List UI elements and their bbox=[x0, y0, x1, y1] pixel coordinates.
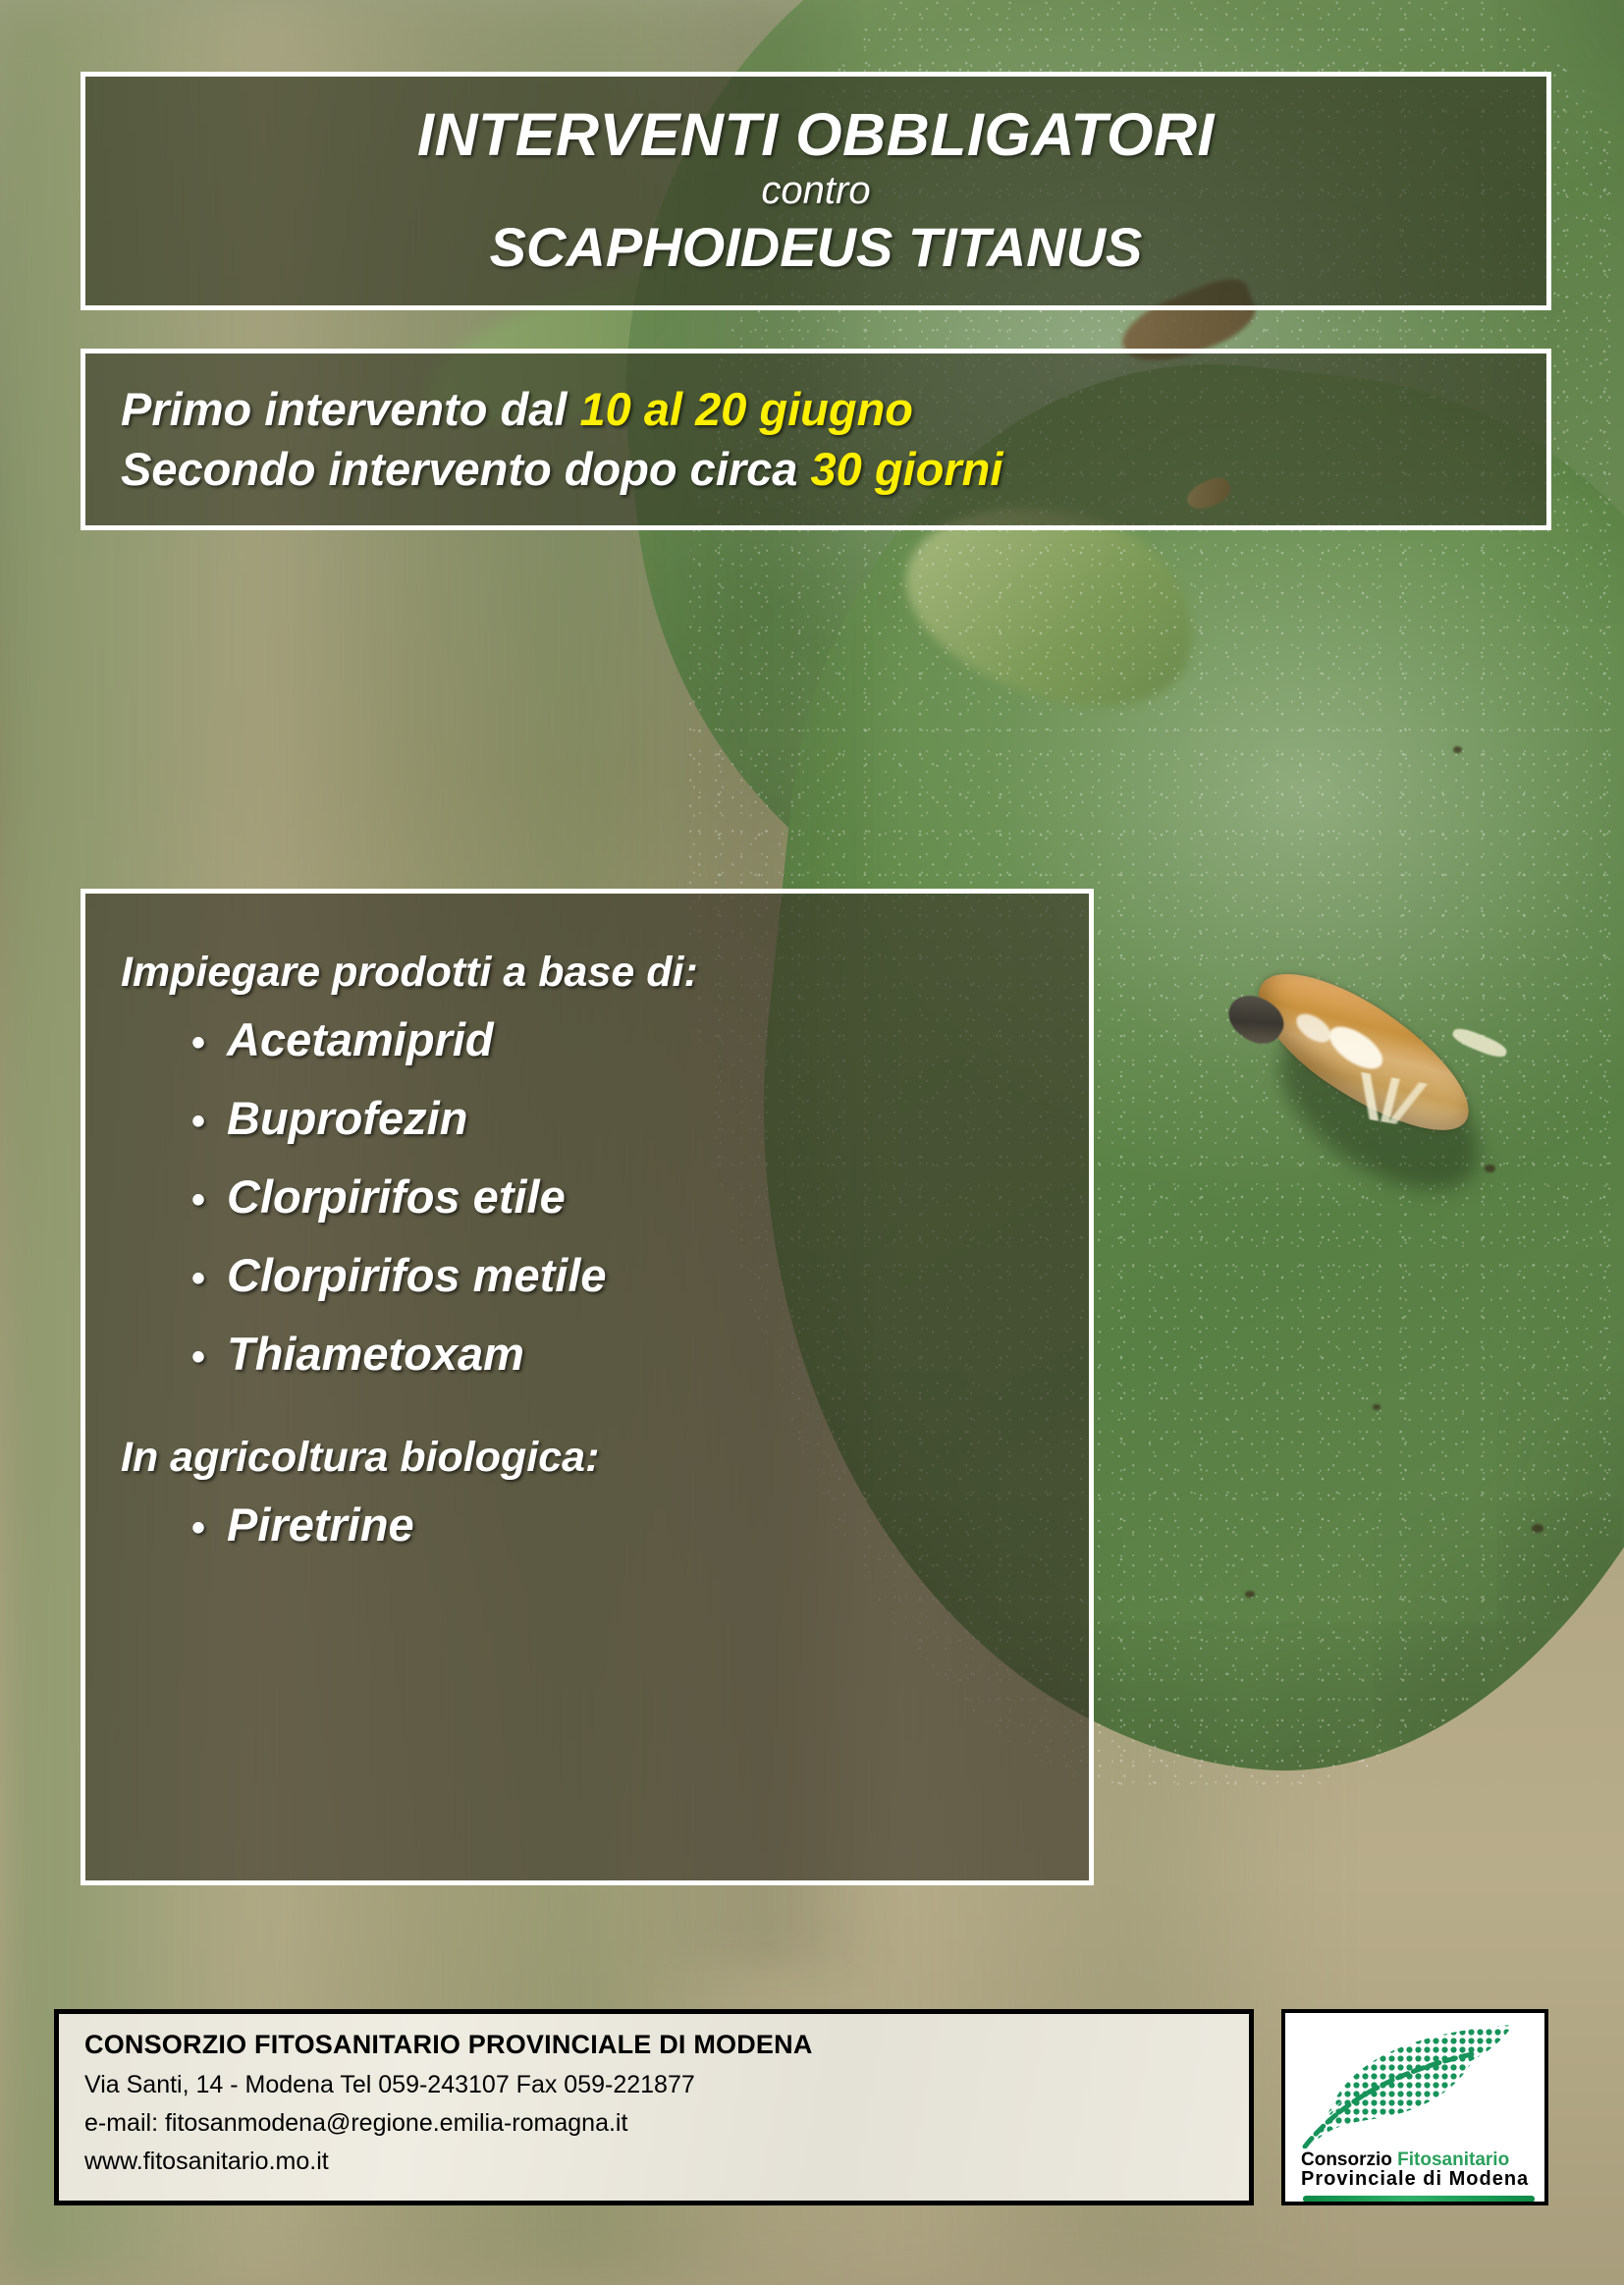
email-line[interactable]: e-mail: fitosanmodena@regione.emilia-rom… bbox=[84, 2111, 1249, 2136]
leaf-speck-icon bbox=[1453, 746, 1462, 753]
bullet-icon: • bbox=[191, 1023, 227, 1062]
list-item-label: Acetamiprid bbox=[227, 1016, 494, 1062]
address-phone-fax-line: Via Santi, 14 - Modena Tel 059-243107 Fa… bbox=[84, 2073, 1249, 2097]
second-treatment-label: Secondo intervento dopo circa bbox=[121, 443, 811, 495]
first-treatment-label: Primo intervento dal bbox=[121, 383, 579, 435]
consorzio-logo-box: Consorzio Fitosanitario Provinciale di M… bbox=[1281, 2009, 1548, 2205]
scaphoideus-titanus-insect bbox=[1208, 982, 1532, 1237]
logo-line-1: Consorzio Fitosanitario bbox=[1301, 2150, 1544, 2169]
logo-wordmark: Consorzio Fitosanitario Provinciale di M… bbox=[1301, 2150, 1544, 2190]
list-item: • Piretrine bbox=[191, 1501, 1089, 1548]
list-item: • Clorpirifos etile bbox=[191, 1173, 1089, 1220]
bullet-icon: • bbox=[191, 1337, 227, 1377]
bullet-icon: • bbox=[191, 1508, 227, 1548]
products-heading: Impiegare prodotti a base di: bbox=[121, 949, 1089, 997]
footer-contact-box: CONSORZIO FITOSANITARIO PROVINCIALE DI M… bbox=[54, 2009, 1254, 2205]
first-treatment-line: Primo intervento dal 10 al 20 giugno bbox=[121, 380, 1546, 439]
organization-name: CONSORZIO FITOSANITARIO PROVINCIALE DI M… bbox=[84, 2030, 1249, 2060]
first-treatment-dates: 10 al 20 giugno bbox=[579, 383, 913, 435]
title-connector-word: contro bbox=[761, 168, 870, 213]
list-item: • Clorpirifos metile bbox=[191, 1252, 1089, 1298]
bullet-icon: • bbox=[191, 1180, 227, 1220]
list-item-label: Buprofezin bbox=[227, 1095, 467, 1141]
list-item: • Acetamiprid bbox=[191, 1016, 1089, 1062]
list-item-label: Clorpirifos etile bbox=[227, 1173, 566, 1220]
organic-ingredients-list: • Piretrine bbox=[121, 1501, 1089, 1548]
list-item-label: Piretrine bbox=[227, 1501, 414, 1548]
title-panel: INTERVENTI OBBLIGATORI contro SCAPHOIDEU… bbox=[81, 72, 1551, 310]
list-item: • Thiametoxam bbox=[191, 1331, 1089, 1377]
logo-line-2: Provinciale di Modena bbox=[1301, 2169, 1544, 2189]
insect-hind-leg bbox=[1450, 1025, 1509, 1061]
bullet-icon: • bbox=[191, 1259, 227, 1298]
treatment-dates-panel: Primo intervento dal 10 al 20 giugno Sec… bbox=[81, 349, 1551, 530]
logo-fitosanitario-word: Fitosanitario bbox=[1397, 2149, 1509, 2170]
products-panel: Impiegare prodotti a base di: • Acetamip… bbox=[81, 889, 1094, 1885]
list-item-label: Thiametoxam bbox=[227, 1331, 524, 1377]
list-item-label: Clorpirifos metile bbox=[227, 1252, 607, 1298]
website-line[interactable]: www.fitosanitario.mo.it bbox=[84, 2149, 1249, 2174]
leaf-speck-icon bbox=[1245, 1591, 1255, 1598]
leaf-speck-icon bbox=[1373, 1404, 1380, 1410]
poster-canvas: INTERVENTI OBBLIGATORI contro SCAPHOIDEU… bbox=[0, 0, 1624, 2285]
logo-consorzio-word: Consorzio bbox=[1301, 2149, 1397, 2170]
second-treatment-interval: 30 giorni bbox=[811, 443, 1003, 495]
list-item: • Buprofezin bbox=[191, 1095, 1089, 1141]
poster-main-title: INTERVENTI OBBLIGATORI bbox=[417, 103, 1215, 167]
leaf-speck-icon bbox=[1532, 1524, 1543, 1533]
active-ingredients-list: • Acetamiprid • Buprofezin • Clorpirifos… bbox=[121, 1016, 1089, 1377]
bullet-icon: • bbox=[191, 1102, 227, 1141]
second-treatment-line: Secondo intervento dopo circa 30 giorni bbox=[121, 440, 1546, 499]
organic-farming-heading: In agricoltura biologica: bbox=[121, 1434, 1089, 1482]
target-species-name: SCAPHOIDEUS TITANUS bbox=[490, 217, 1143, 279]
dotted-leaf-logo-icon bbox=[1299, 2019, 1539, 2149]
logo-underline-bar bbox=[1303, 2196, 1535, 2203]
